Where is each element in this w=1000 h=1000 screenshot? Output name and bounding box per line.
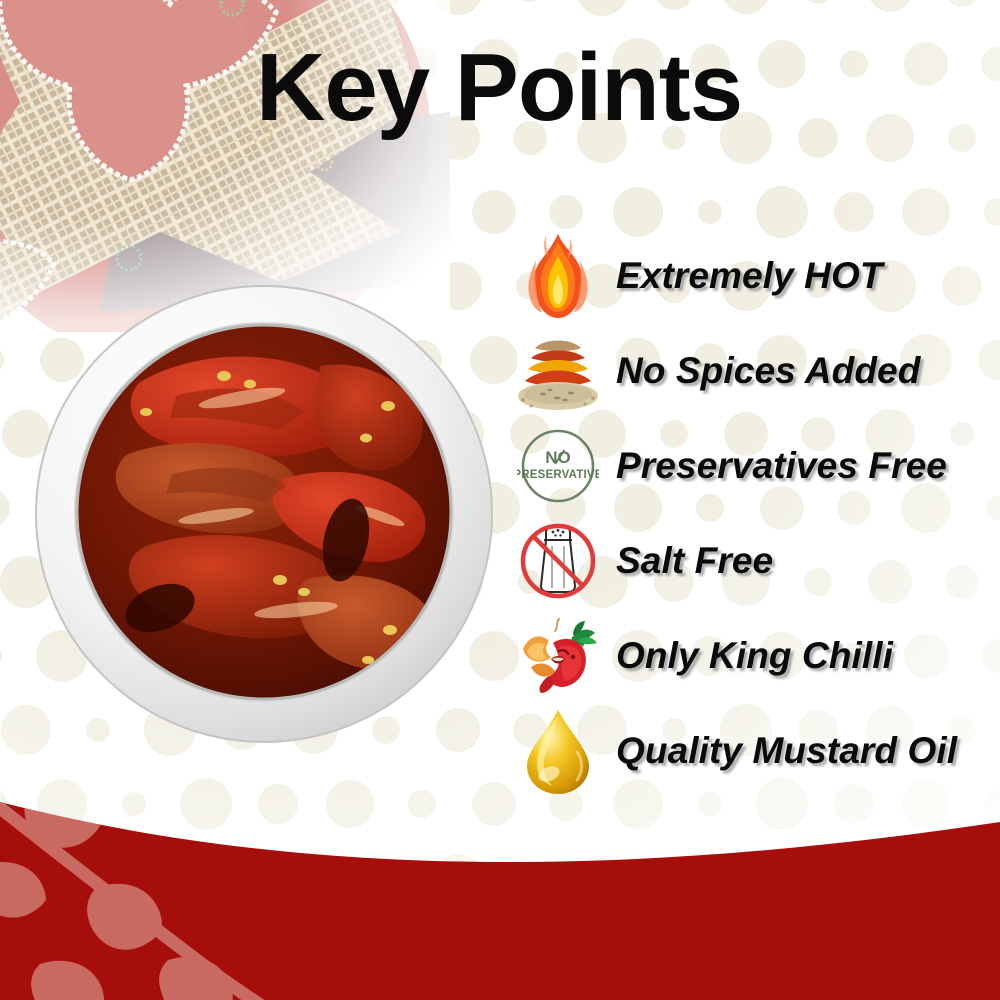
infographic-canvas: Key Points Extremely HOT — [0, 0, 1000, 1000]
key-point-row: No Spices Added — [512, 323, 1000, 418]
bottom-red-band — [0, 770, 1000, 1000]
flame-icon — [512, 230, 604, 322]
badge-line1: NO — [545, 448, 571, 467]
key-point-label: Salt Free — [616, 540, 773, 582]
page-title: Key Points — [256, 38, 742, 139]
key-point-label: Preservatives Free — [616, 445, 947, 487]
key-point-row: Only King Chilli — [512, 608, 1000, 703]
no-salt-shaker-icon — [512, 515, 604, 607]
spice-powder-icon — [512, 325, 604, 417]
key-point-label: Extremely HOT — [616, 255, 883, 297]
fire-breathing-chilli-icon — [512, 610, 604, 702]
no-preservative-icon: NO PRESERVATIVE — [512, 420, 604, 512]
key-point-label: No Spices Added — [616, 350, 920, 392]
key-point-label: Only King Chilli — [616, 635, 893, 677]
pickle-bowl-photo — [28, 278, 500, 750]
key-point-row: Extremely HOT — [512, 228, 1000, 323]
key-point-label: Quality Mustard Oil — [616, 730, 957, 772]
key-points-list: Extremely HOT — [512, 228, 1000, 798]
key-point-row: Salt Free — [512, 513, 1000, 608]
key-point-row: NO PRESERVATIVE Preservatives Free — [512, 418, 1000, 513]
badge-line2: PRESERVATIVE — [517, 469, 599, 481]
